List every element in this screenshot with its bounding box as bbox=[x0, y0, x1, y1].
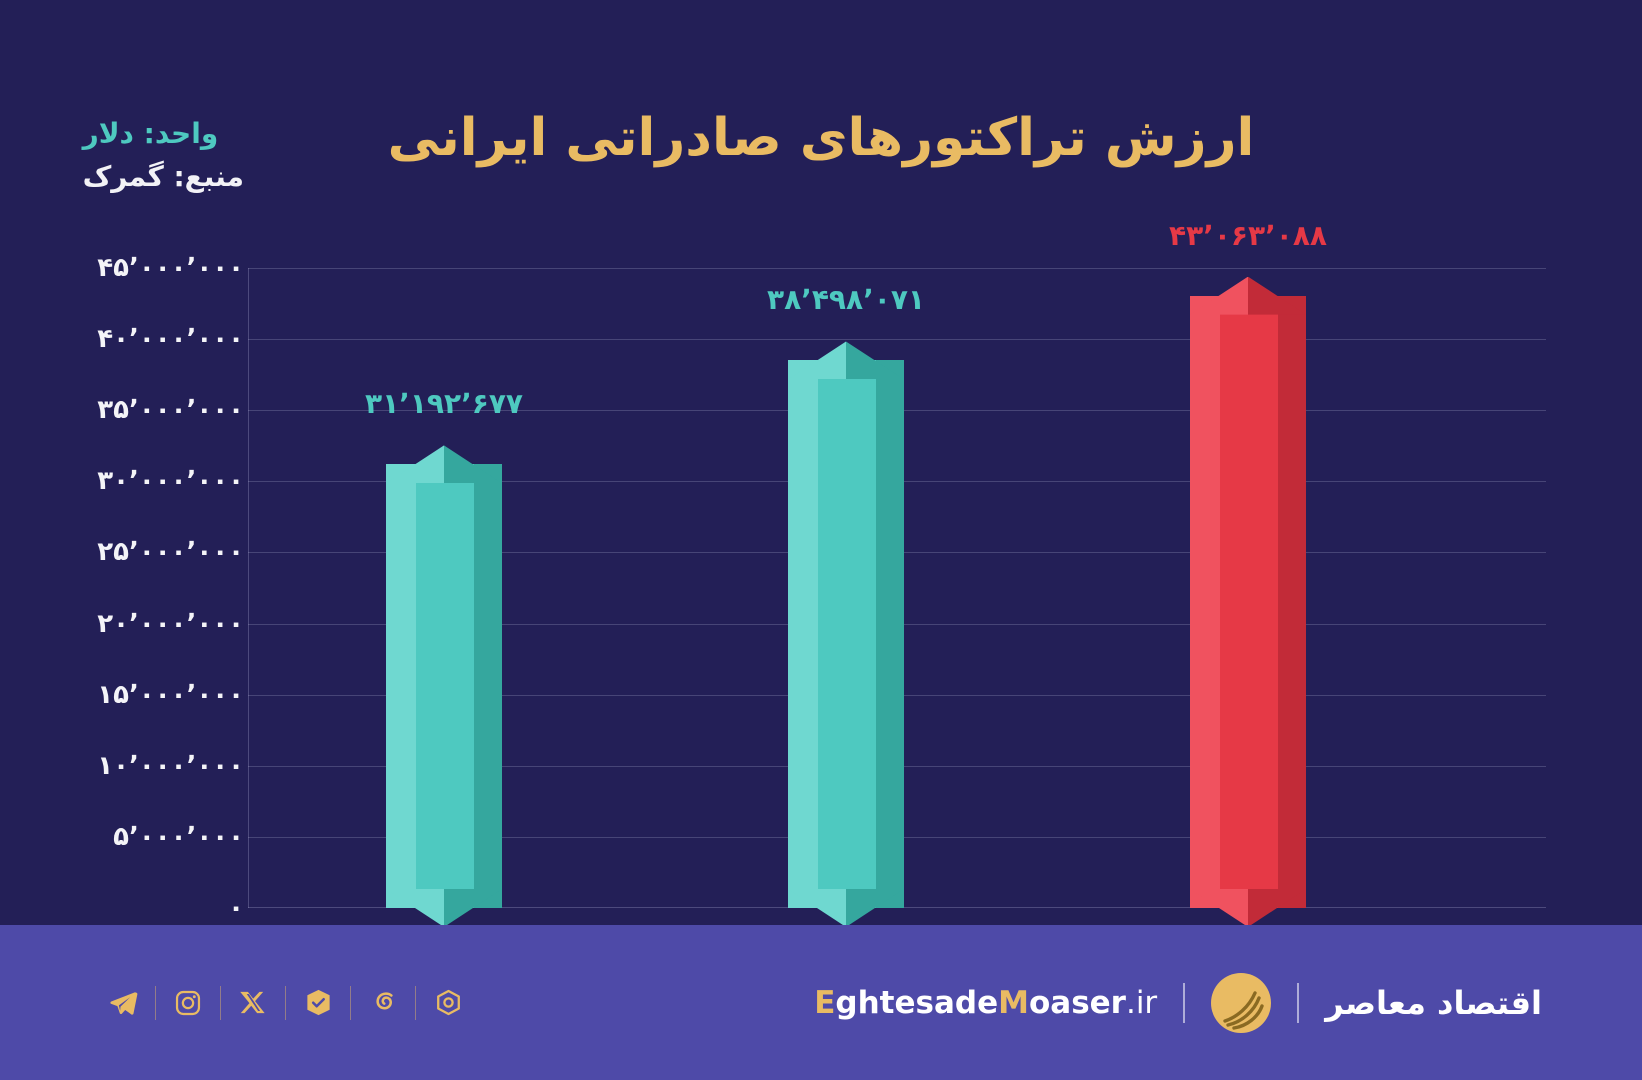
instagram-icon[interactable] bbox=[165, 980, 211, 1026]
eitaa-icon[interactable] bbox=[360, 980, 406, 1026]
bar-slot: ۳۱٬۱۹۲٬۶۷۷۱۴۰۱ bbox=[344, 268, 544, 908]
bevel-facet bbox=[788, 889, 846, 927]
y-axis-tick-label: ۳۵٬۰۰۰٬۰۰۰ bbox=[97, 395, 244, 425]
bar-slot: ۳۸٬۴۹۸٬۰۷۱۱۴۰۲ bbox=[746, 268, 946, 908]
divider bbox=[285, 986, 286, 1020]
bar-body bbox=[788, 360, 904, 908]
brand-en-oaser: oaser bbox=[1029, 985, 1126, 1021]
bar-column[interactable]: ۳۱٬۱۹۲٬۶۷۷۱۴۰۱ bbox=[386, 464, 502, 908]
bar-shadow bbox=[876, 360, 904, 908]
site-logo-icon bbox=[1211, 973, 1271, 1033]
bar-top-bevel bbox=[1190, 277, 1306, 315]
bar-top-bevel bbox=[386, 445, 502, 483]
plot-area: ۴۵٬۰۰۰٬۰۰۰۴۰٬۰۰۰٬۰۰۰۳۵٬۰۰۰٬۰۰۰۳۰٬۰۰۰٬۰۰۰… bbox=[248, 268, 1546, 908]
brand-name-fa: اقتصاد معاصر bbox=[1325, 984, 1542, 1022]
divider bbox=[415, 986, 416, 1020]
bevel-facet bbox=[1248, 277, 1306, 315]
rubika-icon[interactable] bbox=[425, 980, 471, 1026]
brand-name-en: EghtesadeMoaser.ir bbox=[814, 985, 1157, 1021]
bar-body bbox=[1190, 296, 1306, 908]
bevel-facet bbox=[386, 889, 444, 927]
y-axis-tick-label: ۱۰٬۰۰۰٬۰۰۰ bbox=[97, 751, 244, 781]
y-axis-line bbox=[248, 268, 249, 908]
brand-en-m: M bbox=[998, 985, 1029, 1021]
y-axis-tick-label: ۱۵٬۰۰۰٬۰۰۰ bbox=[97, 680, 244, 710]
bevel-facet bbox=[386, 445, 444, 483]
bar-body bbox=[386, 464, 502, 908]
bar-value-label: ۳۱٬۱۹۲٬۶۷۷ bbox=[365, 387, 523, 420]
infographic-root: واحد: دلار منبع: گمرک ارزش تراکتورهای صا… bbox=[0, 0, 1642, 1080]
bar-shadow bbox=[474, 464, 502, 908]
bevel-facet bbox=[1248, 889, 1306, 927]
footer-band: اقتصاد معاصر EghtesadeMoaser.ir bbox=[0, 925, 1642, 1080]
bar-highlight bbox=[1190, 296, 1220, 908]
bar-slot: ۴۳٬۰۶۳٬۰۸۸۸ ماهه ۱۴۰۳ bbox=[1148, 268, 1348, 908]
y-axis-tick-label: ۰ bbox=[228, 893, 244, 923]
bar-bottom-bevel bbox=[788, 889, 904, 927]
chart-title: ارزش تراکتورهای صادراتی ایرانی bbox=[0, 108, 1642, 168]
divider bbox=[1297, 983, 1299, 1023]
divider bbox=[350, 986, 351, 1020]
bar-column[interactable]: ۳۸٬۴۹۸٬۰۷۱۱۴۰۲ bbox=[788, 360, 904, 908]
brand-en-tld: .ir bbox=[1126, 985, 1157, 1021]
bar-highlight bbox=[386, 464, 416, 908]
bar-column[interactable]: ۴۳٬۰۶۳٬۰۸۸۸ ماهه ۱۴۰۳ bbox=[1190, 296, 1306, 908]
brand-en-ghtesade: ghtesade bbox=[835, 985, 998, 1021]
divider bbox=[155, 986, 156, 1020]
y-axis-tick-label: ۲۵٬۰۰۰٬۰۰۰ bbox=[97, 537, 244, 567]
divider bbox=[1183, 983, 1185, 1023]
y-axis-tick-label: ۴۵٬۰۰۰٬۰۰۰ bbox=[97, 253, 244, 283]
bar-value-label: ۴۳٬۰۶۳٬۰۸۸ bbox=[1169, 219, 1327, 252]
bevel-facet bbox=[1190, 889, 1248, 927]
y-axis-tick-label: ۵٬۰۰۰٬۰۰۰ bbox=[113, 822, 244, 852]
telegram-icon[interactable] bbox=[100, 980, 146, 1026]
bar-value-label: ۳۸٬۴۹۸٬۰۷۱ bbox=[767, 283, 925, 316]
bevel-facet bbox=[846, 341, 904, 379]
y-axis-tick-label: ۲۰٬۰۰۰٬۰۰۰ bbox=[97, 609, 244, 639]
y-axis-tick-label: ۴۰٬۰۰۰٬۰۰۰ bbox=[97, 324, 244, 354]
x-twitter-icon[interactable] bbox=[230, 980, 276, 1026]
brand-block: اقتصاد معاصر EghtesadeMoaser.ir bbox=[814, 973, 1542, 1033]
bevel-facet bbox=[444, 445, 502, 483]
y-axis-tick-label: ۳۰٬۰۰۰٬۰۰۰ bbox=[97, 466, 244, 496]
brand-en-e: E bbox=[814, 985, 835, 1021]
bale-icon[interactable] bbox=[295, 980, 341, 1026]
bevel-facet bbox=[1190, 277, 1248, 315]
bar-bottom-bevel bbox=[1190, 889, 1306, 927]
bevel-facet bbox=[846, 889, 904, 927]
divider bbox=[220, 986, 221, 1020]
bar-top-bevel bbox=[788, 341, 904, 379]
bar-shadow bbox=[1278, 296, 1306, 908]
bar-bottom-bevel bbox=[386, 889, 502, 927]
bevel-facet bbox=[444, 889, 502, 927]
bar-highlight bbox=[788, 360, 818, 908]
bevel-facet bbox=[788, 341, 846, 379]
social-links bbox=[100, 980, 471, 1026]
